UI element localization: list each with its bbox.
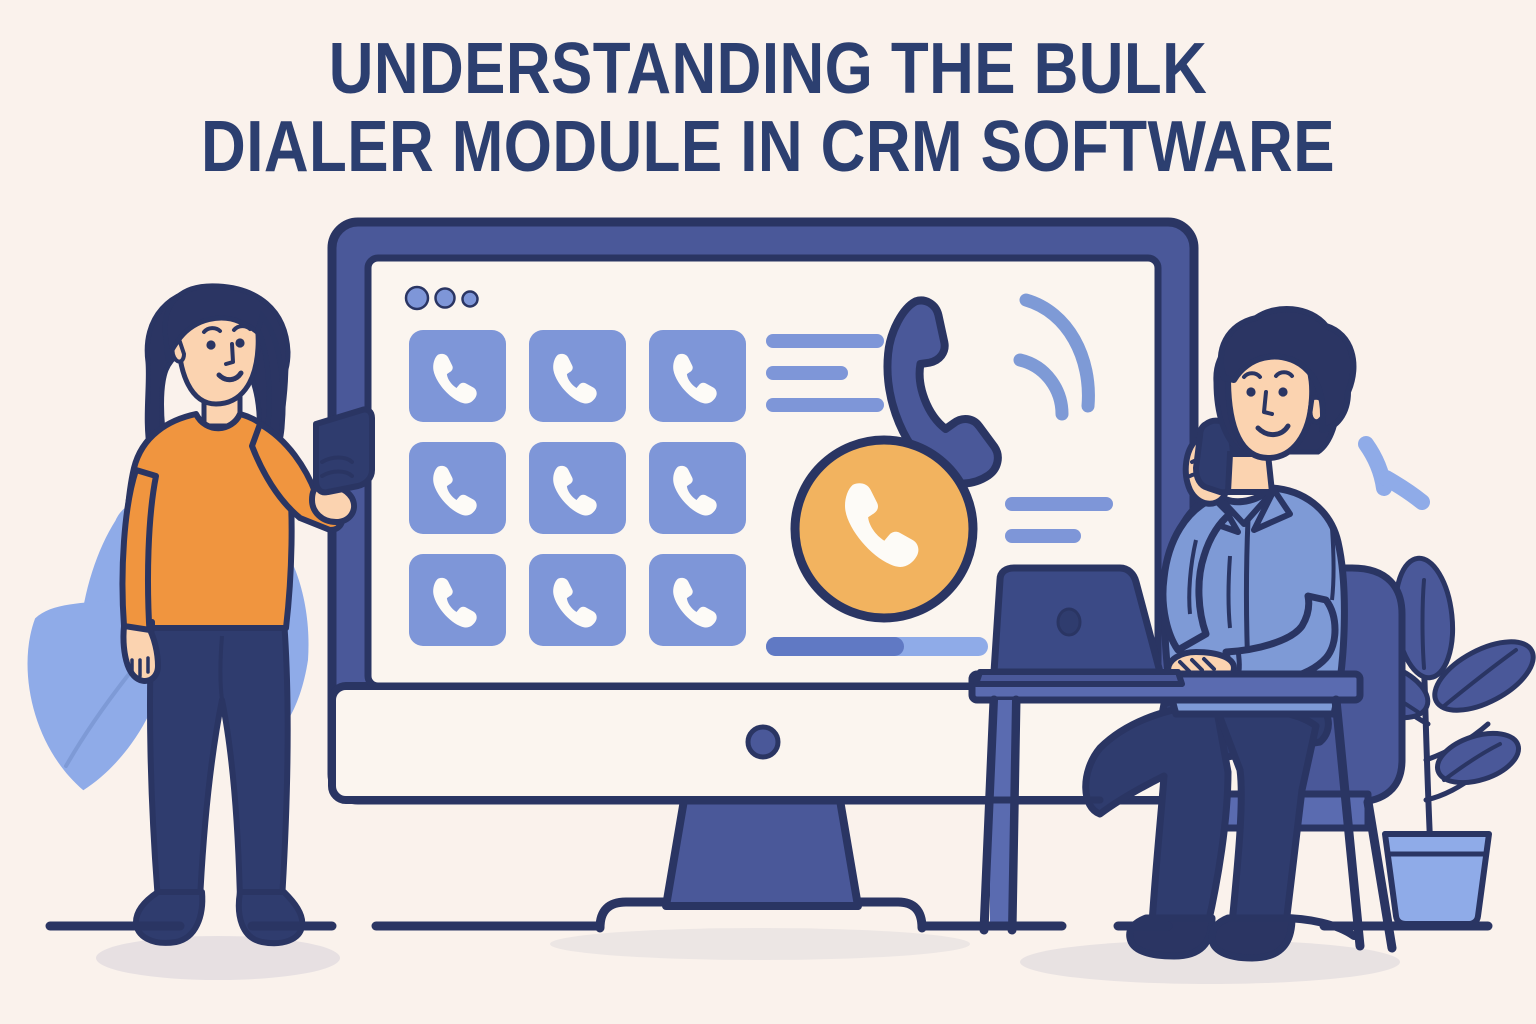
active-call-badge: [795, 440, 973, 618]
plant-pot: [1385, 834, 1489, 924]
woman-pants-crease: [221, 636, 223, 700]
laptop-base: [976, 672, 1182, 684]
text-bar-4: [1005, 497, 1113, 511]
phone-tile: [529, 442, 626, 534]
woman-arm-left: [123, 470, 157, 645]
monitor-power-dot: [748, 727, 778, 757]
progress-fill: [766, 637, 904, 656]
phone-tile: [649, 330, 746, 422]
shadow-man: [1020, 940, 1400, 984]
phone-tile: [409, 554, 506, 646]
woman-shoe-right: [239, 892, 302, 943]
text-bar-1: [766, 334, 884, 348]
phone-tile: [529, 330, 626, 422]
plant-leaf-vein: [1423, 580, 1425, 668]
dialing-progress-bar: [766, 637, 988, 656]
phone-tile: [529, 554, 626, 646]
woman-shoe-left: [136, 892, 202, 943]
man-eye-left: [1246, 387, 1255, 396]
text-bar-5: [1005, 529, 1081, 543]
man-eye-right: [1278, 387, 1287, 396]
shadow-monitor: [550, 928, 970, 960]
woman-eye-right: [235, 338, 244, 347]
phone-tile: [649, 442, 746, 534]
phone-tile-grid: [409, 330, 746, 646]
monitor-neck: [666, 800, 858, 906]
man-shirt-crease-a: [1229, 556, 1231, 628]
phone-tile: [409, 442, 506, 534]
window-dot-3: [463, 292, 478, 307]
text-bar-3: [766, 398, 884, 412]
illustration-canvas: [0, 0, 1536, 1024]
shadow-woman: [96, 936, 340, 980]
text-bar-2: [766, 366, 848, 380]
man-shirt-crease-b: [1332, 528, 1334, 600]
phone-tile: [409, 330, 506, 422]
window-dot-2: [436, 289, 455, 308]
window-dot-1: [406, 287, 428, 309]
man-shoe-back: [1212, 918, 1292, 958]
laptop-logo: [1058, 609, 1080, 635]
phone-tile: [649, 554, 746, 646]
woman-mobile-phone: [316, 409, 372, 492]
woman-eye-left: [206, 340, 215, 349]
